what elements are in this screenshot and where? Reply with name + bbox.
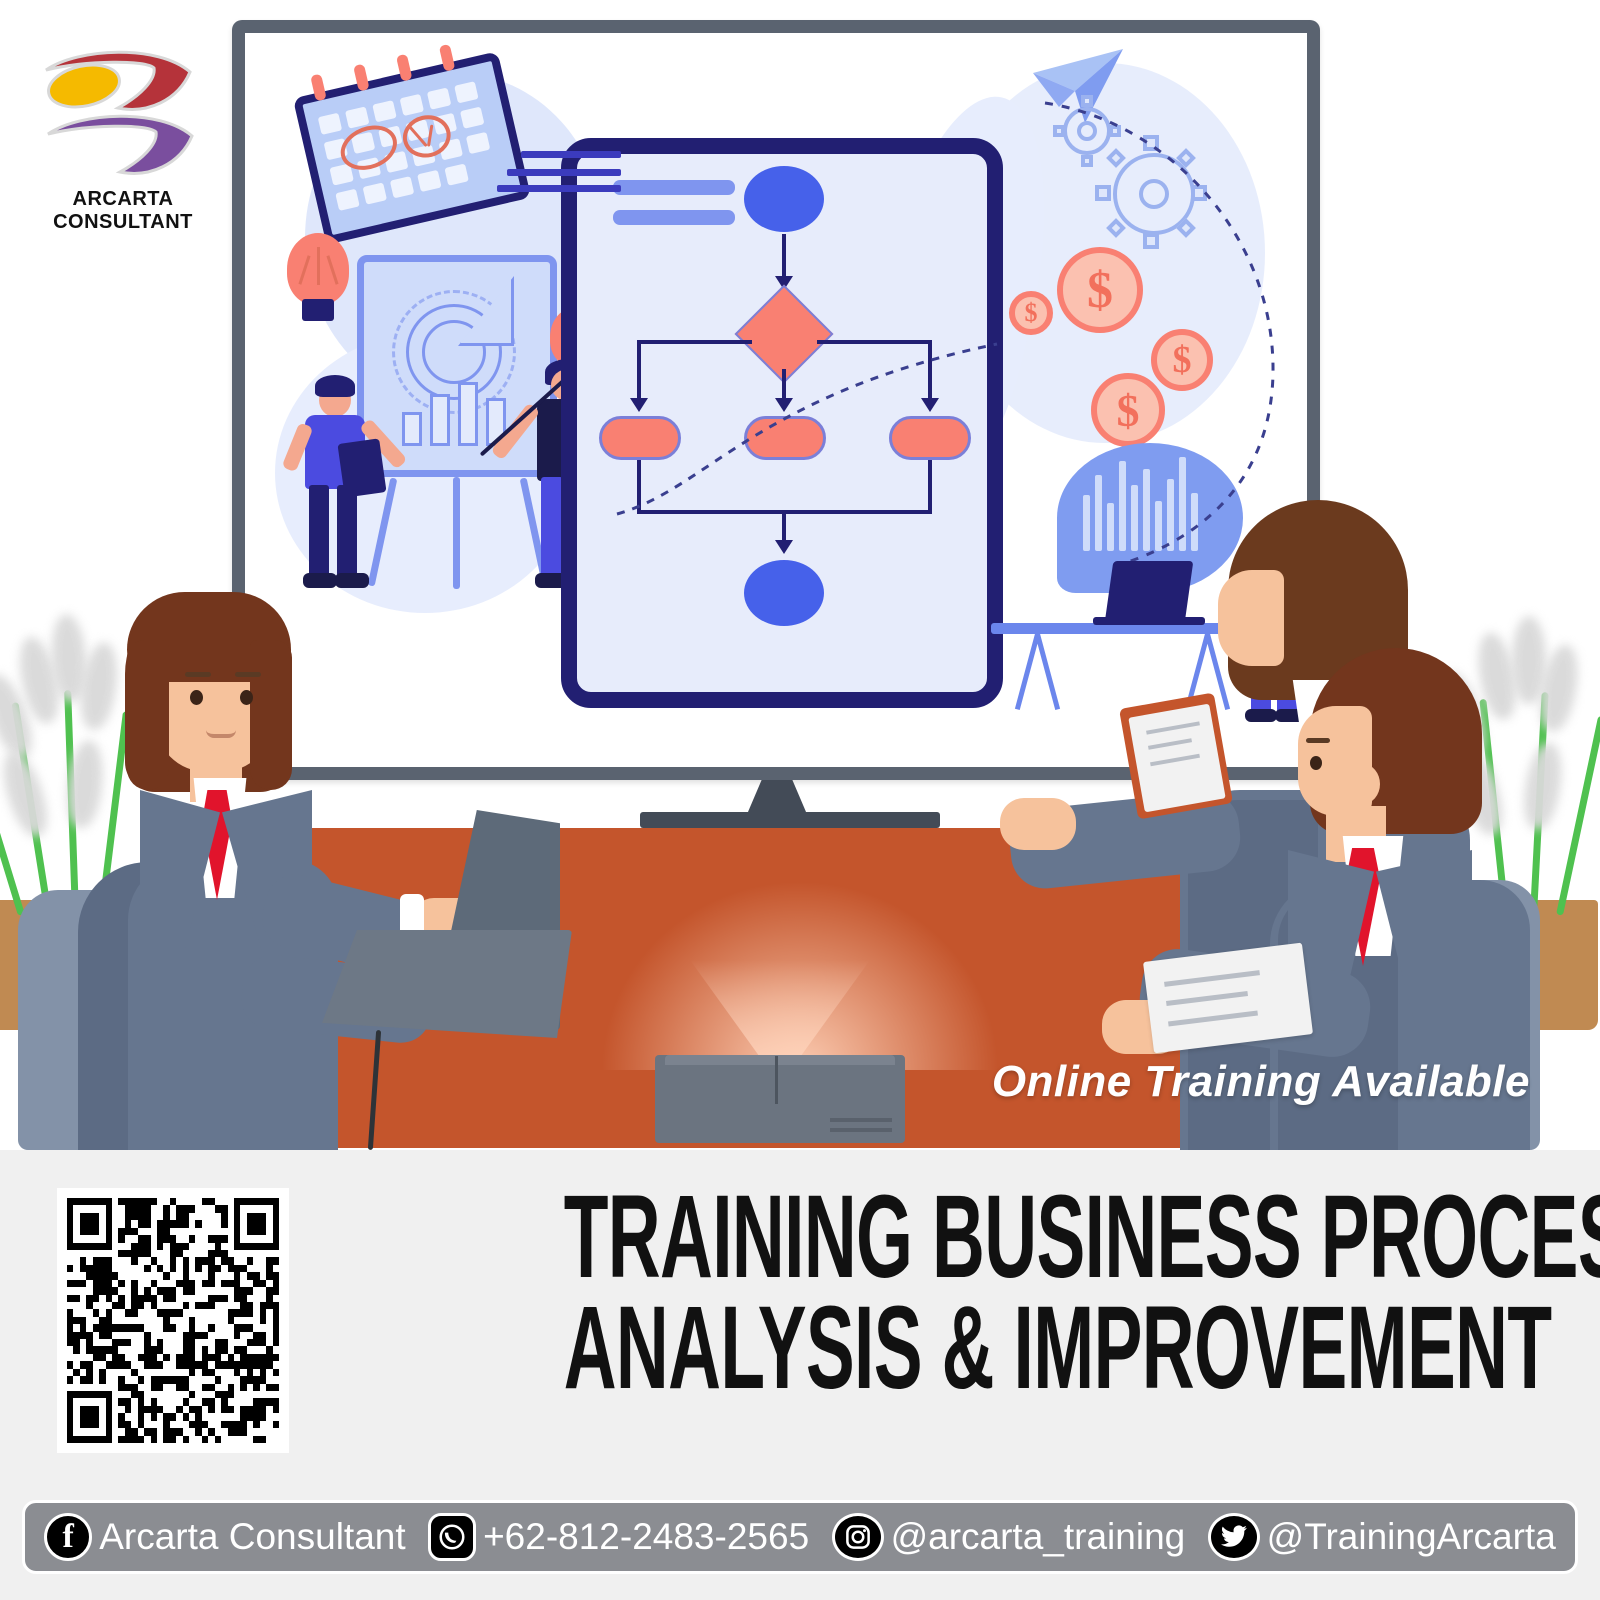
facebook-label: Arcarta Consultant xyxy=(99,1516,405,1558)
flow-start-node xyxy=(744,166,824,232)
flowchart-panel xyxy=(561,138,1003,708)
lightbulb-base xyxy=(302,299,334,321)
instagram-icon[interactable] xyxy=(832,1513,884,1561)
table-light-glow xyxy=(600,880,1000,1070)
page-title: TRAINING BUSINESS PROCESS ANALYSIS & IMP… xyxy=(330,1182,1560,1404)
whatsapp-icon[interactable] xyxy=(428,1513,476,1561)
whatsapp-glyph xyxy=(437,1522,467,1552)
screen-stand-base xyxy=(640,812,940,828)
twitter-label: @TrainingArcarta xyxy=(1267,1516,1556,1558)
twitter-icon[interactable] xyxy=(1208,1513,1260,1561)
twitter-glyph xyxy=(1219,1524,1249,1550)
laptop-base-woman xyxy=(322,930,572,1038)
social-media-bar: f Arcarta Consultant +62-812-2483-2565 @… xyxy=(22,1500,1578,1574)
instagram-glyph xyxy=(843,1522,873,1552)
facebook-icon[interactable]: f xyxy=(44,1513,92,1561)
logo-line-2: CONSULTANT xyxy=(28,211,218,234)
qr-code-grid xyxy=(67,1198,279,1443)
logo-wordmark: ARCARTA CONSULTANT xyxy=(28,188,218,234)
social-item-instagram[interactable]: @arcarta_training xyxy=(832,1513,1186,1561)
flow-dashed-curve xyxy=(577,284,1019,534)
social-item-twitter[interactable]: @TrainingArcarta xyxy=(1208,1513,1556,1561)
flow-end-node xyxy=(744,560,824,626)
whatsapp-label: +62-812-2483-2565 xyxy=(483,1516,809,1558)
presentation-screen: $ $ $ $ xyxy=(232,20,1320,780)
poster-root: $ $ $ $ xyxy=(0,0,1600,1600)
projector-top-panel xyxy=(665,1055,895,1065)
instagram-label: @arcarta_training xyxy=(891,1516,1186,1558)
online-training-badge: Online Training Available xyxy=(985,1057,1530,1107)
social-item-whatsapp[interactable]: +62-812-2483-2565 xyxy=(428,1513,809,1561)
company-logo: ARCARTA CONSULTANT xyxy=(28,38,218,248)
logo-line-1: ARCARTA xyxy=(28,188,218,211)
screen-content: $ $ $ $ xyxy=(245,33,1307,767)
title-line-2: ANALYSIS & IMPROVEMENT xyxy=(564,1293,1327,1404)
social-item-facebook[interactable]: f Arcarta Consultant xyxy=(44,1513,405,1561)
qr-code[interactable] xyxy=(57,1188,289,1453)
title-line-1: TRAINING BUSINESS PROCESS xyxy=(564,1182,1327,1293)
hero-illustration: $ $ $ $ xyxy=(0,0,1600,1150)
